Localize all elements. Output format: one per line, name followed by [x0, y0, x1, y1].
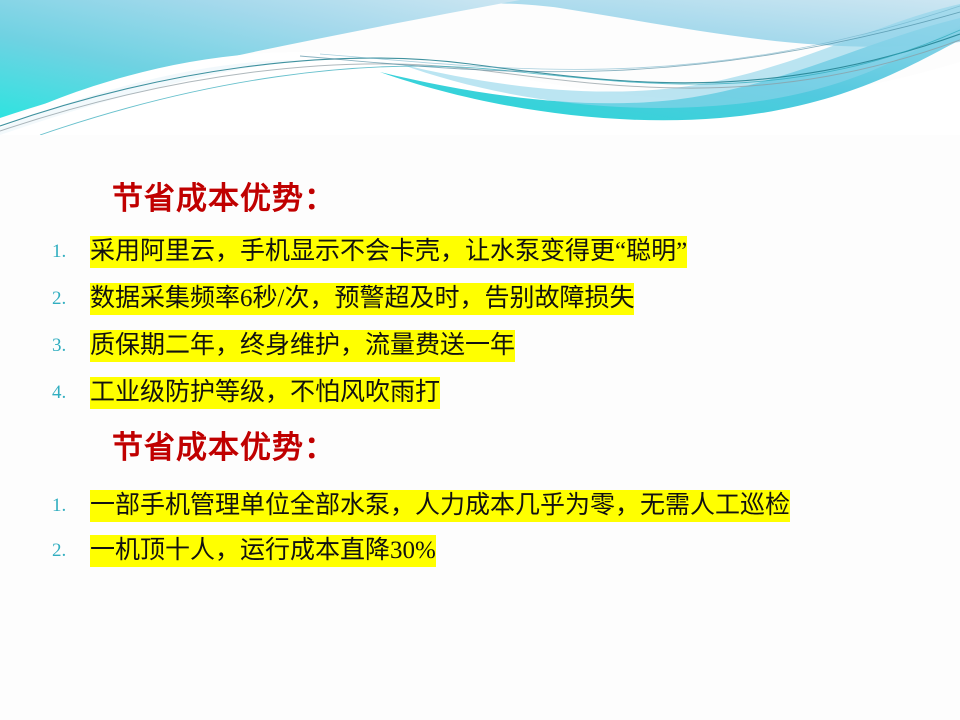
list-marker: 2.: [52, 275, 82, 322]
section-title-2: 节省成本优势：: [112, 422, 336, 467]
list-item-label: 一机顶十人，运行成本直降30%: [90, 528, 436, 573]
highlight-span: 数据采集频率6秒/次，预警超及时，告别故障损失: [90, 283, 634, 315]
list-marker: 1.: [52, 228, 82, 275]
highlight-span: 一部手机管理单位全部水泵，人力成本几乎为零，无需人工巡检: [90, 490, 790, 522]
bullet-list-2: 1. 一部手机管理单位全部水泵，人力成本几乎为零，无需人工巡检 2. 一机顶十人…: [0, 483, 960, 573]
list-item: 3. 质保期二年，终身维护，流量费送一年: [0, 322, 960, 369]
highlight-span: 一机顶十人，运行成本直降30%: [90, 535, 436, 567]
list-marker: 1.: [52, 483, 82, 528]
list-item-label: 数据采集频率6秒/次，预警超及时，告别故障损失: [90, 275, 634, 322]
list-marker: 2.: [52, 528, 82, 573]
highlight-span: 工业级防护等级，不怕风吹雨打: [90, 377, 440, 409]
highlight-span: 采用阿里云，手机显示不会卡壳，让水泵变得更“聪明”: [90, 236, 687, 268]
list-item-label: 一部手机管理单位全部水泵，人力成本几乎为零，无需人工巡检: [90, 483, 790, 528]
list-item: 2. 数据采集频率6秒/次，预警超及时，告别故障损失: [0, 275, 960, 322]
list-item: 1. 一部手机管理单位全部水泵，人力成本几乎为零，无需人工巡检: [0, 483, 960, 528]
list-item: 1. 采用阿里云，手机显示不会卡壳，让水泵变得更“聪明”: [0, 228, 960, 275]
slide-canvas: 节省成本优势： 1. 采用阿里云，手机显示不会卡壳，让水泵变得更“聪明” 2. …: [0, 0, 960, 720]
slide-content: 节省成本优势： 1. 采用阿里云，手机显示不会卡壳，让水泵变得更“聪明” 2. …: [0, 0, 960, 720]
list-item: 2. 一机顶十人，运行成本直降30%: [0, 528, 960, 573]
list-marker: 4.: [52, 369, 82, 416]
list-item-label: 采用阿里云，手机显示不会卡壳，让水泵变得更“聪明”: [90, 228, 687, 275]
list-item-label: 质保期二年，终身维护，流量费送一年: [90, 322, 515, 369]
bullet-list-1: 1. 采用阿里云，手机显示不会卡壳，让水泵变得更“聪明” 2. 数据采集频率6秒…: [0, 228, 960, 416]
section-title-1: 节省成本优势：: [112, 173, 336, 218]
list-marker: 3.: [52, 322, 82, 369]
highlight-span: 质保期二年，终身维护，流量费送一年: [90, 330, 515, 362]
list-item: 4. 工业级防护等级，不怕风吹雨打: [0, 369, 960, 416]
list-item-label: 工业级防护等级，不怕风吹雨打: [90, 369, 440, 416]
